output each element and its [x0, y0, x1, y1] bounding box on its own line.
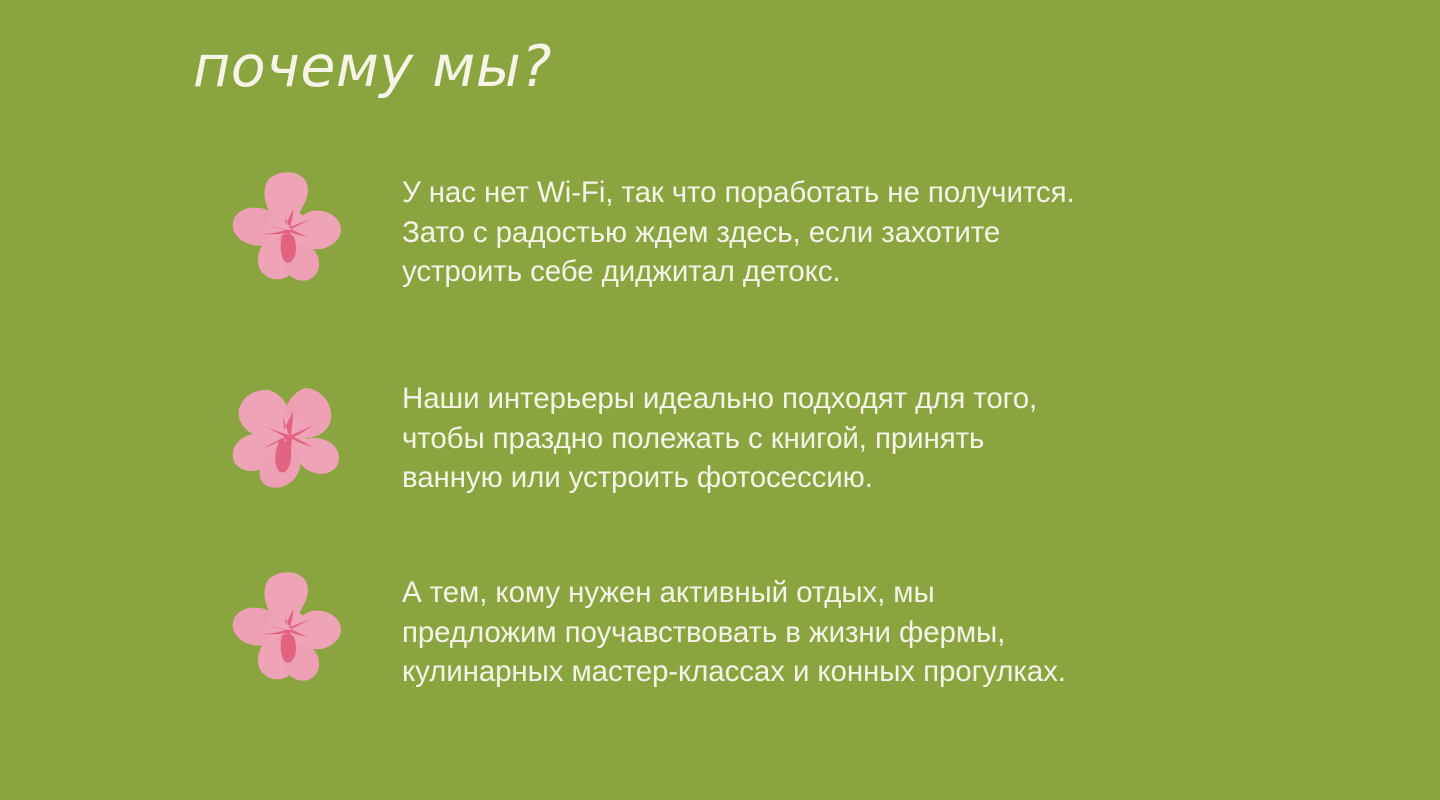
- list-item-text: У нас нет Wi-Fi, так что поработать не п…: [402, 173, 1232, 292]
- slide-canvas: почему мы?: [0, 0, 1440, 800]
- flower-icon: [222, 566, 352, 686]
- list-item: Наши интерьеры идеально подходят для тог…: [222, 372, 1232, 498]
- list-item-text: А тем, кому нужен активный отдых, мы пре…: [402, 573, 1232, 692]
- list-item: А тем, кому нужен активный отдых, мы пре…: [222, 566, 1232, 692]
- list-item-text: Наши интерьеры идеально подходят для тог…: [402, 379, 1232, 498]
- flower-icon: [222, 372, 352, 492]
- page-title: почему мы?: [193, 34, 552, 101]
- list-item: У нас нет Wi-Fi, так что поработать не п…: [222, 166, 1232, 292]
- flower-icon: [222, 166, 352, 286]
